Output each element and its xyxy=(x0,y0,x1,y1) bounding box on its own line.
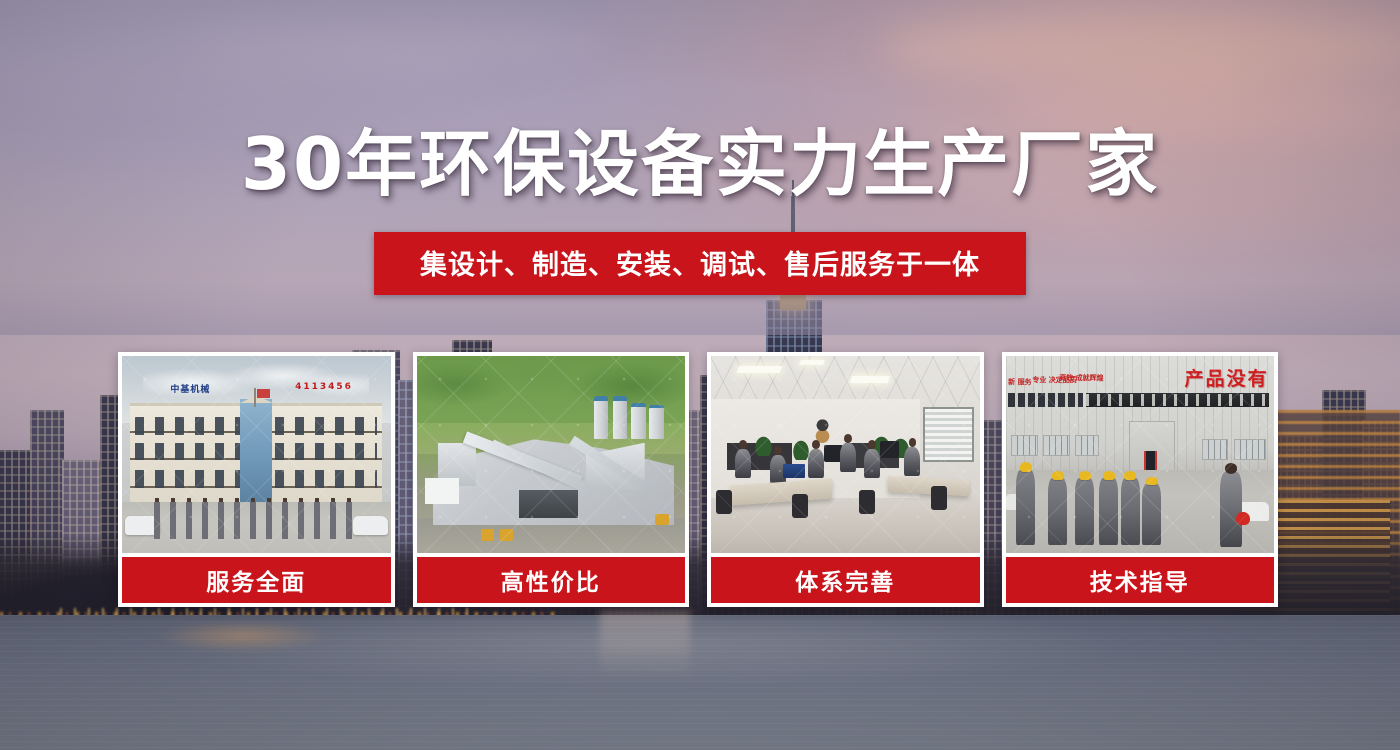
page-title: 30年环保设备实力生产厂家 xyxy=(0,128,1400,200)
card-label: 高性价比 xyxy=(417,557,686,603)
worker-with-helmet xyxy=(1142,484,1161,545)
storage-silo xyxy=(649,407,664,439)
computer-monitor xyxy=(880,441,899,459)
building-phone-text: 4113456 xyxy=(295,382,353,392)
storage-silo xyxy=(613,399,628,438)
feature-card[interactable]: 产品没有 新 服务 专业 决定品质 高效 成就辉煌 xyxy=(1002,352,1279,607)
storage-silo xyxy=(631,405,646,438)
office-worker xyxy=(904,447,920,477)
worker-with-helmet xyxy=(1121,478,1140,545)
window-blinds xyxy=(923,407,974,462)
office-chair xyxy=(792,494,808,518)
factory-window xyxy=(1043,435,1070,457)
plant-building xyxy=(425,478,460,504)
laptop xyxy=(783,464,804,478)
factory-window xyxy=(1202,439,1229,461)
card-photo xyxy=(417,356,686,553)
china-flag xyxy=(257,389,270,399)
office-worker xyxy=(735,449,751,479)
ceiling-light xyxy=(849,376,889,383)
factory-window-strip-tint xyxy=(1086,394,1269,406)
feature-card[interactable]: 体系完善 xyxy=(707,352,984,607)
worker-with-helmet xyxy=(1016,470,1035,545)
card-label: 体系完善 xyxy=(711,557,980,603)
worker-with-helmet xyxy=(1048,478,1067,545)
promo-banner: 30年环保设备实力生产厂家 集设计、制造、安装、调试、售后服务于一体 xyxy=(0,0,1400,750)
card-photo: 产品没有 新 服务 专业 决定品质 高效 成就辉煌 xyxy=(1006,356,1275,553)
card-label: 服务全面 xyxy=(122,557,391,603)
yellow-machinery xyxy=(481,529,494,541)
feature-card[interactable]: 高性价比 xyxy=(413,352,690,607)
plant-shed xyxy=(519,490,578,518)
factory-window-row xyxy=(1008,393,1083,407)
ceiling-light xyxy=(736,366,782,373)
subtitle-container: 集设计、制造、安装、调试、售后服务于一体 xyxy=(0,232,1400,295)
yellow-machinery xyxy=(500,529,513,541)
factory-workers-photo: 产品没有 新 服务 专业 决定品质 高效 成就辉煌 xyxy=(1006,356,1275,553)
card-photo: 中基机械 4113456 xyxy=(122,356,391,553)
photo-glass-core xyxy=(240,399,272,505)
aerial-plant-photo xyxy=(417,356,686,553)
ceiling-light xyxy=(799,360,825,365)
worker-with-helmet xyxy=(1099,478,1118,545)
office-building-photo: 中基机械 4113456 xyxy=(122,356,391,553)
office-worker xyxy=(808,449,824,479)
factory-window xyxy=(1075,435,1099,457)
card-label: 技术指导 xyxy=(1006,557,1275,603)
factory-slogan-text: 新 服务 xyxy=(1008,378,1031,386)
office-interior-photo xyxy=(711,356,980,553)
office-worker xyxy=(864,449,880,479)
building-sign-text: 中基机械 xyxy=(170,382,210,395)
worker-with-helmet xyxy=(1075,478,1094,545)
red-helmet xyxy=(1236,512,1249,526)
banner-content: 30年环保设备实力生产厂家 集设计、制造、安装、调试、售后服务于一体 xyxy=(0,0,1400,750)
office-worker xyxy=(840,443,856,473)
supervisor xyxy=(1220,472,1241,547)
factory-slogan-text: 高效 成就辉煌 xyxy=(1059,374,1103,382)
potted-plant xyxy=(754,435,773,457)
office-chair xyxy=(716,490,732,514)
card-photo xyxy=(711,356,980,553)
office-chair xyxy=(859,490,875,514)
subtitle-badge: 集设计、制造、安装、调试、售后服务于一体 xyxy=(374,232,1026,295)
storage-silo xyxy=(594,399,609,438)
office-chair xyxy=(931,486,947,510)
factory-window xyxy=(1234,439,1266,461)
factory-window xyxy=(1011,435,1038,457)
staff-lineup xyxy=(149,502,358,539)
feature-card[interactable]: 中基机械 4113456 服务全面 xyxy=(118,352,395,607)
yellow-machinery xyxy=(655,514,668,526)
factory-sign-text: 产品没有 xyxy=(1185,364,1269,391)
feature-card-list: 中基机械 4113456 服务全面 xyxy=(118,352,1278,607)
